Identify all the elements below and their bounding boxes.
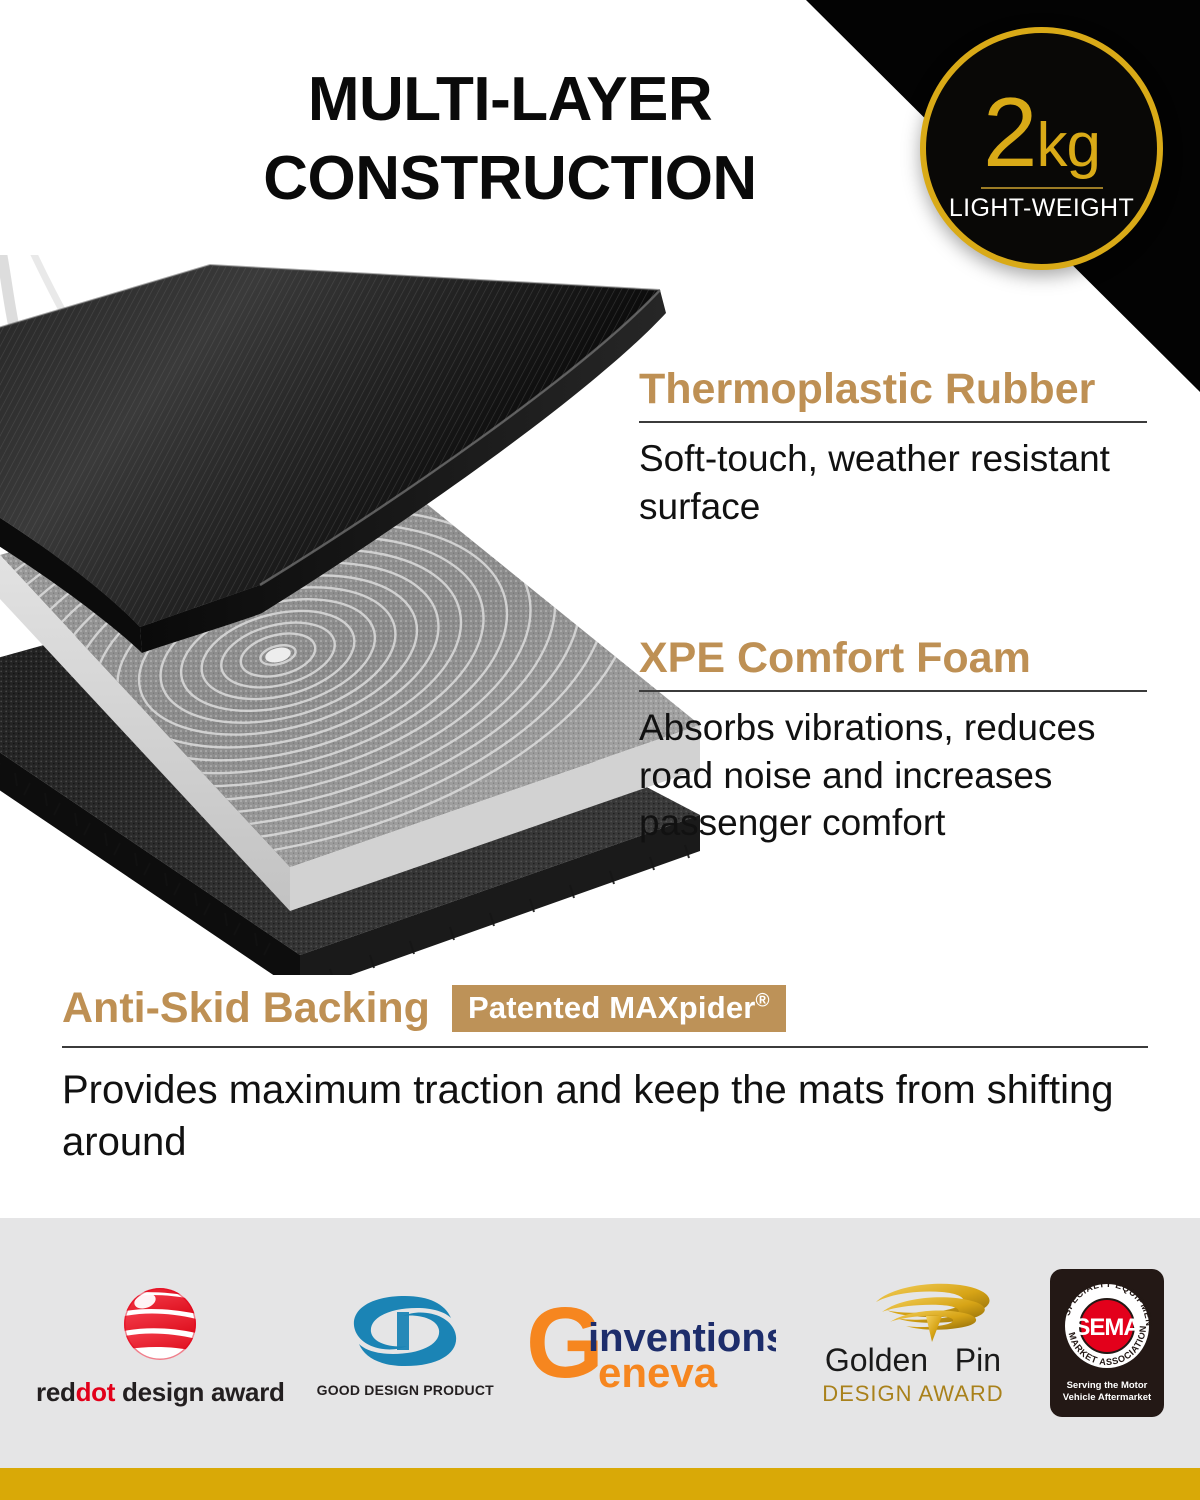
good-design-gd-icon xyxy=(345,1288,465,1374)
feature-heading-row: Anti-Skid Backing Patented MAXpider® xyxy=(62,985,1148,1032)
page-title: MULTI-LAYER CONSTRUCTION xyxy=(190,60,830,219)
feature-thermoplastic-rubber: Thermoplastic Rubber Soft-touch, weather… xyxy=(639,367,1147,530)
sema-tagline: Serving the Motor Vehicle Aftermarket xyxy=(1063,1380,1151,1403)
reddot-sphere-icon xyxy=(115,1279,205,1369)
badge-caption: LIGHT-WEIGHT xyxy=(949,196,1134,221)
reddot-label-red: red xyxy=(36,1377,76,1407)
patented-badge-label: Patented MAXpider xyxy=(468,990,756,1025)
weight-unit: kg xyxy=(1037,115,1100,177)
feature-title: Anti-Skid Backing xyxy=(62,986,430,1031)
weight-value-row: 2 kg xyxy=(983,83,1100,181)
feature-title: XPE Comfort Foam xyxy=(639,636,1147,681)
sema-card: SPECIALTY EQUIPMENT MARKET ASSOCIATION S… xyxy=(1050,1269,1164,1417)
award-sema: SPECIALTY EQUIPMENT MARKET ASSOCIATION S… xyxy=(1050,1269,1164,1417)
feature-xpe-comfort-foam: XPE Comfort Foam Absorbs vibrations, red… xyxy=(639,636,1147,846)
feature-title: Thermoplastic Rubber xyxy=(639,367,1147,412)
golden-pin-subtitle: DESIGN AWARD xyxy=(822,1381,1004,1407)
badge-divider xyxy=(981,187,1103,189)
award-inventions-geneva: G inventions eneva xyxy=(526,1293,776,1393)
feature-divider xyxy=(639,690,1147,692)
feature-divider xyxy=(639,421,1147,423)
feature-description: Provides maximum traction and keep the m… xyxy=(62,1064,1148,1168)
pin-word: Pin xyxy=(955,1342,1001,1378)
light-weight-badge: 2 kg LIGHT-WEIGHT xyxy=(920,27,1163,270)
bottom-gold-bar xyxy=(0,1468,1200,1500)
title-line-1: MULTI-LAYER xyxy=(190,60,830,139)
award-label: GOOD DESIGN PRODUCT xyxy=(317,1382,494,1398)
feature-divider xyxy=(62,1046,1148,1048)
sema-tagline-line-1: Serving the Motor xyxy=(1063,1380,1151,1392)
award-reddot: reddot design award xyxy=(36,1279,285,1408)
patented-maxpider-badge: Patented MAXpider® xyxy=(452,985,786,1032)
weight-number: 2 xyxy=(983,83,1036,181)
feature-anti-skid-backing: Anti-Skid Backing Patented MAXpider® Pro… xyxy=(62,985,1148,1168)
eneva-word: eneva xyxy=(598,1349,718,1393)
award-label: reddot design award xyxy=(36,1377,285,1408)
inventions-geneva-logo: G inventions eneva xyxy=(526,1293,776,1393)
feature-description: Soft-touch, weather resistant surface xyxy=(639,435,1147,530)
golden-pin-wordmark: Golden Pin xyxy=(825,1342,1001,1379)
sema-tagline-line-2: Vehicle Aftermarket xyxy=(1063,1392,1151,1404)
reddot-label-dot: dot xyxy=(76,1377,116,1407)
feature-description: Absorbs vibrations, reduces road noise a… xyxy=(639,704,1147,846)
sema-center-text: SEMA xyxy=(1074,1314,1140,1341)
award-good-design-product: GOOD DESIGN PRODUCT xyxy=(317,1288,494,1398)
title-line-2: CONSTRUCTION xyxy=(190,139,830,218)
golden-pin-swoosh-icon xyxy=(808,1280,1018,1342)
golden-word: Golden xyxy=(825,1342,928,1378)
award-golden-pin: Golden Pin DESIGN AWARD xyxy=(808,1280,1018,1407)
reddot-label-rest: design award xyxy=(115,1377,284,1407)
awards-footer-band: reddot design award GOOD DESIGN PRODUCT … xyxy=(0,1218,1200,1468)
awards-row: reddot design award GOOD DESIGN PRODUCT … xyxy=(0,1218,1200,1468)
sema-seal-icon: SPECIALTY EQUIPMENT MARKET ASSOCIATION S… xyxy=(1057,1276,1157,1376)
registered-trademark-icon: ® xyxy=(756,991,770,1012)
product-layers-illustration xyxy=(0,255,700,975)
